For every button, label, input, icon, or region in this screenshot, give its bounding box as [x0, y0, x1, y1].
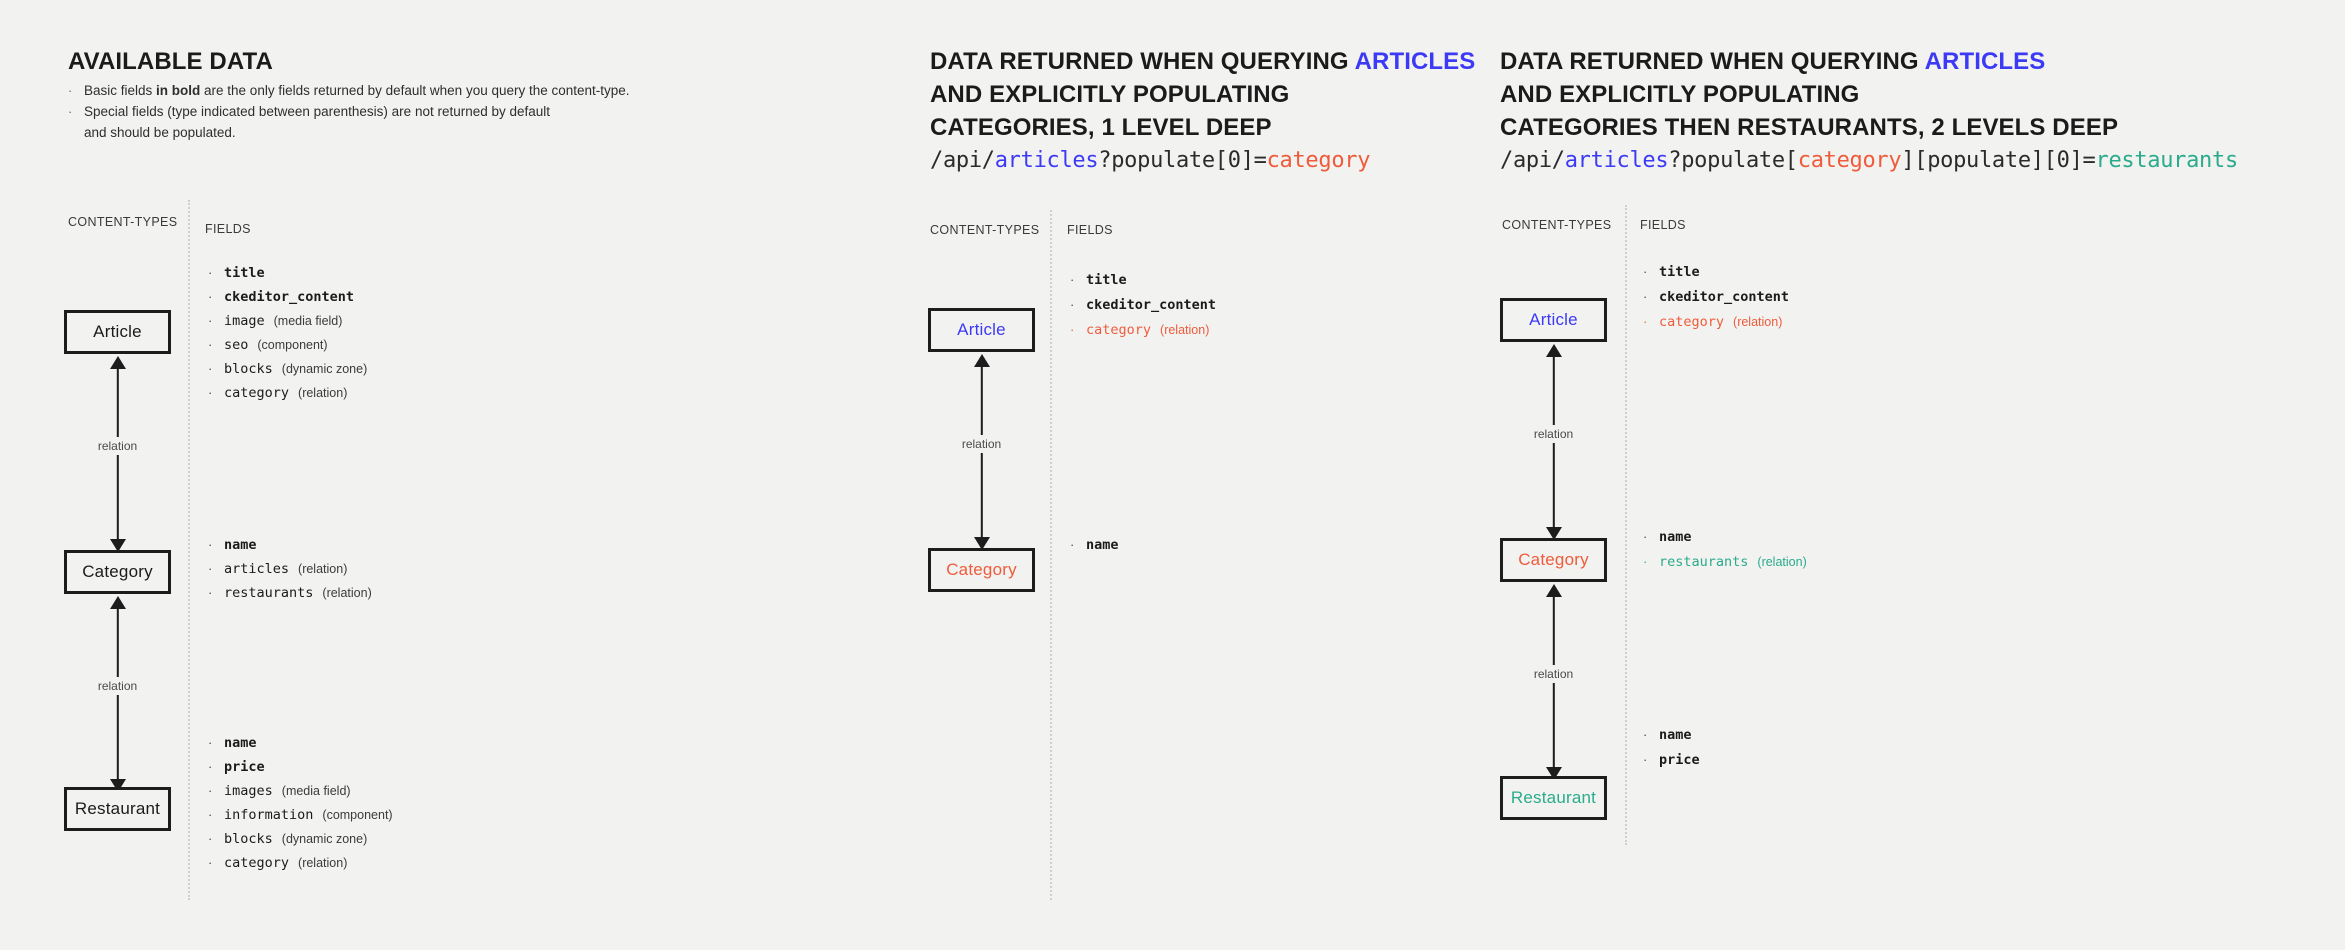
field-name: information [224, 807, 313, 823]
field-type: (relation) [298, 561, 347, 577]
bullet-dot-icon: · [1643, 264, 1659, 280]
field-type: (relation) [1160, 322, 1209, 338]
column-label-content-types: CONTENT-TYPES [68, 215, 177, 229]
field-group-restaurant: · name · price [1643, 727, 1709, 768]
heading-line: DATA RETURNED WHEN QUERYING ARTICLES [1500, 45, 2118, 78]
field-name: blocks [224, 831, 273, 847]
bullet-dot-icon: · [68, 101, 84, 122]
field-name: restaurants [1659, 554, 1748, 570]
heading-line: AND EXPLICITLY POPULATING [930, 78, 1475, 111]
field-row: · price [1643, 752, 1709, 768]
field-name: title [1659, 264, 1700, 280]
field-group-category: · name [1070, 537, 1128, 553]
field-row: · category (relation) [1070, 322, 1225, 338]
api-path-query: /api/articles?populate[0]=category [930, 148, 1370, 173]
field-name: restaurants [224, 585, 313, 601]
bullet-dot-icon: · [208, 385, 224, 401]
api-path-segment: ?populate[ [1668, 148, 1797, 173]
entity-label: Article [1529, 310, 1578, 330]
entity-box-article[interactable]: Article [64, 310, 171, 354]
field-group-category: · name · articles (relation) · restauran… [208, 537, 372, 601]
relation-label: relation [93, 677, 142, 695]
field-type: (relation) [1757, 554, 1806, 570]
entity-label: Article [957, 320, 1006, 340]
field-row: · image (media field) [208, 313, 367, 329]
field-name: seo [224, 337, 248, 353]
relation-label: relation [1529, 425, 1578, 443]
relation-arrow-article-category: relation [64, 356, 171, 552]
bullet-dot-icon: · [208, 289, 224, 305]
field-type: (dynamic zone) [282, 361, 367, 377]
bullet-dot-icon: · [1070, 537, 1086, 553]
field-group-article: · title · ckeditor_content · image (medi… [208, 265, 367, 401]
field-type: (dynamic zone) [282, 831, 367, 847]
field-name: blocks [224, 361, 273, 377]
entity-label: Article [93, 322, 142, 342]
field-name: name [1659, 529, 1692, 545]
field-row: · restaurants (relation) [1643, 554, 1807, 570]
field-name: name [1659, 727, 1692, 743]
heading-line: CATEGORIES THEN RESTAURANTS, 2 LEVELS DE… [1500, 111, 2118, 144]
intro-bullet-list: · Basic fields in bold are the only fiel… [68, 80, 668, 143]
field-name: articles [224, 561, 289, 577]
field-row: · name [1070, 537, 1128, 553]
bullet-dot-icon: · [208, 561, 224, 577]
api-path-segment: ?populate[0]= [1098, 148, 1266, 173]
intro-bullet-text: Basic fields in bold are the only fields… [84, 80, 668, 101]
bullet-dot-icon: · [208, 759, 224, 775]
field-type: (relation) [1733, 314, 1782, 330]
relation-label: relation [957, 435, 1006, 453]
bullet-dot-icon: · [1643, 314, 1659, 330]
field-name: category [1659, 314, 1724, 330]
api-path-segment-category: category [1267, 148, 1371, 173]
arrow-head-up-icon [110, 596, 126, 609]
arrow-head-up-icon [974, 354, 990, 367]
field-name: category [1086, 322, 1151, 338]
column-label-content-types: CONTENT-TYPES [930, 223, 1039, 237]
field-type: (media field) [274, 313, 343, 329]
field-row: · restaurants (relation) [208, 585, 372, 601]
bullet-dot-icon: · [208, 537, 224, 553]
panel-1-column-divider [188, 200, 190, 900]
entity-label: Category [1518, 550, 1589, 570]
api-path-segment: /api/ [1500, 148, 1565, 173]
field-row: · category (relation) [208, 385, 367, 401]
field-type: (component) [257, 337, 327, 353]
column-label-fields: FIELDS [205, 222, 251, 236]
field-name: name [224, 537, 257, 553]
intro-bullet-item: · Basic fields in bold are the only fiel… [68, 80, 668, 101]
field-row: · title [1643, 264, 1798, 280]
api-path-segment-articles: articles [1565, 148, 1669, 173]
api-path-segment: ][populate][0]= [1901, 148, 2095, 173]
bullet-dot-icon: · [208, 735, 224, 751]
bullet-dot-icon: · [1070, 272, 1086, 288]
field-group-article: · title · ckeditor_content · category (r… [1643, 264, 1798, 330]
field-row: · ckeditor_content [208, 289, 367, 305]
field-row: · name [208, 735, 393, 751]
entity-box-category[interactable]: Category [928, 548, 1035, 592]
bullet-dot-icon: · [208, 313, 224, 329]
relation-label: relation [1529, 665, 1578, 683]
field-name: name [1086, 537, 1119, 553]
field-row: · price [208, 759, 393, 775]
entity-box-restaurant[interactable]: Restaurant [64, 787, 171, 831]
heading-highlight-articles: ARTICLES [1925, 48, 2046, 75]
heading-line: DATA RETURNED WHEN QUERYING ARTICLES [930, 45, 1475, 78]
panel-3-heading: DATA RETURNED WHEN QUERYING ARTICLES AND… [1500, 45, 2118, 144]
field-row: · name [208, 537, 372, 553]
field-row: · images (media field) [208, 783, 393, 799]
field-row: · ckeditor_content [1643, 289, 1798, 305]
entity-box-category[interactable]: Category [64, 550, 171, 594]
field-group-restaurant: · name · price · images (media field) · … [208, 735, 393, 871]
field-row: · name [1643, 727, 1709, 743]
bullet-dot-icon: · [1643, 727, 1659, 743]
bullet-dot-icon: · [208, 855, 224, 871]
field-row: · blocks (dynamic zone) [208, 831, 393, 847]
field-name: image [224, 313, 265, 329]
intro-bullet-text: Special fields (type indicated between p… [84, 101, 668, 122]
field-name: price [1659, 752, 1700, 768]
intro-bullet-item: · Special fields (type indicated between… [68, 101, 668, 122]
heading-line: CATEGORIES, 1 LEVEL DEEP [930, 111, 1475, 144]
field-row: · category (relation) [208, 855, 393, 871]
bullet-dot-icon: · [1643, 289, 1659, 305]
field-name: title [224, 265, 265, 281]
entity-label: Restaurant [1511, 788, 1596, 808]
field-row: · information (component) [208, 807, 393, 823]
field-type: (relation) [298, 385, 347, 401]
field-group-article: · title · ckeditor_content · category (r… [1070, 272, 1225, 338]
field-row: · title [1070, 272, 1225, 288]
bullet-dot-icon: · [208, 807, 224, 823]
relation-arrow-category-restaurant: relation [64, 596, 171, 792]
bullet-dot-icon: · [1070, 297, 1086, 313]
entity-box-article[interactable]: Article [1500, 298, 1607, 342]
api-path-query: /api/articles?populate[category][populat… [1500, 148, 2238, 173]
panel-query-1-level: DATA RETURNED WHEN QUERYING ARTICLES AND… [855, 0, 1500, 950]
bullet-dot-icon: · [1643, 554, 1659, 570]
api-path-segment: /api/ [930, 148, 995, 173]
bullet-dot-icon: · [1070, 322, 1086, 338]
field-name: ckeditor_content [224, 289, 354, 305]
entity-box-category[interactable]: Category [1500, 538, 1607, 582]
field-type: (relation) [298, 855, 347, 871]
api-path-segment-restaurants: restaurants [2096, 148, 2238, 173]
bullet-dot-icon: · [1643, 752, 1659, 768]
relation-arrow-article-category: relation [928, 354, 1035, 550]
field-row: · category (relation) [1643, 314, 1798, 330]
field-name: ckeditor_content [1659, 289, 1789, 305]
bullet-dot-icon: · [208, 585, 224, 601]
heading-line-text: AVAILABLE DATA [68, 48, 273, 75]
field-type: (media field) [282, 783, 351, 799]
intro-bullet-continuation: and should be populated. [68, 122, 668, 143]
relation-arrow-category-restaurant: relation [1500, 584, 1607, 780]
relation-label: relation [93, 437, 142, 455]
column-label-fields: FIELDS [1067, 223, 1113, 237]
heading-line: AND EXPLICITLY POPULATING [1500, 78, 2118, 111]
arrow-head-up-icon [1546, 344, 1562, 357]
entity-label: Restaurant [75, 799, 160, 819]
panel-1-heading: AVAILABLE DATA [68, 45, 273, 78]
bullet-dot-icon: · [68, 80, 84, 101]
field-name: category [224, 855, 289, 871]
field-name: title [1086, 272, 1127, 288]
panel-2-heading: DATA RETURNED WHEN QUERYING ARTICLES AND… [930, 45, 1475, 144]
field-row: · seo (component) [208, 337, 367, 353]
entity-label: Category [946, 560, 1017, 580]
field-row: · articles (relation) [208, 561, 372, 577]
bullet-dot-icon: · [1643, 529, 1659, 545]
entity-box-article[interactable]: Article [928, 308, 1035, 352]
field-name: price [224, 759, 265, 775]
relation-arrow-article-category: relation [1500, 344, 1607, 540]
field-row: · title [208, 265, 367, 281]
panel-available-data: AVAILABLE DATA · Basic fields in bold ar… [0, 0, 855, 950]
heading-highlight-articles: ARTICLES [1355, 48, 1476, 75]
bullet-dot-icon: · [208, 361, 224, 377]
field-name: images [224, 783, 273, 799]
bullet-dot-icon: · [208, 265, 224, 281]
intro-bullet-text: and should be populated. [84, 122, 668, 143]
field-type: (relation) [322, 585, 371, 601]
bullet-dot-icon: · [208, 337, 224, 353]
arrow-head-up-icon [1546, 584, 1562, 597]
field-row: · blocks (dynamic zone) [208, 361, 367, 377]
field-name: category [224, 385, 289, 401]
column-label-content-types: CONTENT-TYPES [1502, 218, 1611, 232]
panel-3-column-divider [1625, 205, 1627, 845]
arrow-head-up-icon [110, 356, 126, 369]
field-group-category: · name · restaurants (relation) [1643, 529, 1807, 570]
bullet-dot-icon: · [208, 783, 224, 799]
api-path-segment-category: category [1798, 148, 1902, 173]
field-type: (component) [322, 807, 392, 823]
panel-query-2-levels: DATA RETURNED WHEN QUERYING ARTICLES AND… [1500, 0, 2345, 950]
field-row: · ckeditor_content [1070, 297, 1225, 313]
panel-2-column-divider [1050, 210, 1052, 900]
api-path-segment-articles: articles [995, 148, 1099, 173]
field-name: ckeditor_content [1086, 297, 1216, 313]
field-row: · name [1643, 529, 1807, 545]
entity-label: Category [82, 562, 153, 582]
entity-box-restaurant[interactable]: Restaurant [1500, 776, 1607, 820]
column-label-fields: FIELDS [1640, 218, 1686, 232]
bullet-dot-icon: · [208, 831, 224, 847]
field-name: name [224, 735, 257, 751]
